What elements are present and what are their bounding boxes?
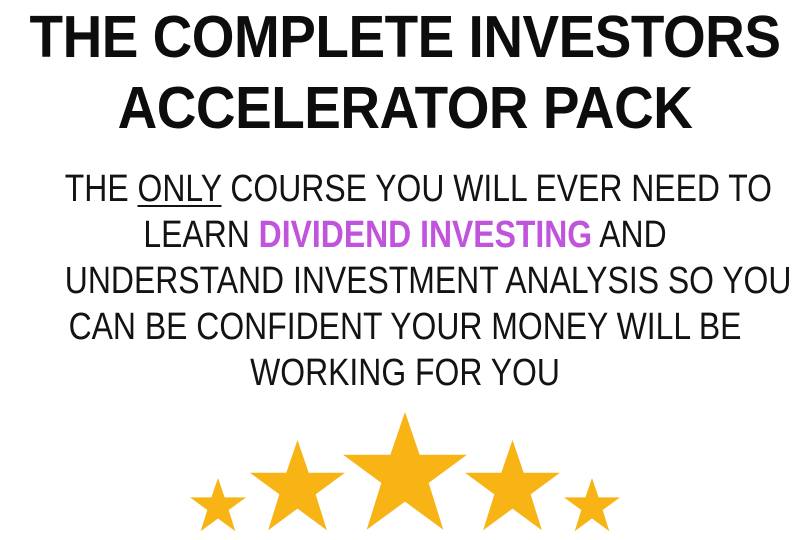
subhead-block: THE ONLY COURSE YOU WILL EVER NEED TO LE… [0, 166, 810, 396]
subhead-line-4: CAN BE CONFIDENT YOUR MONEY WILL BE [65, 304, 745, 350]
subhead-line-2-post: AND [592, 214, 667, 256]
subhead-line-5: WORKING FOR YOU [65, 350, 745, 396]
headline-block: THE COMPLETE INVESTORS ACCELERATOR PACK [0, 2, 810, 144]
promo-poster: THE COMPLETE INVESTORS ACCELERATOR PACK … [0, 0, 810, 540]
star-icon-1 [190, 478, 246, 531]
subhead-line-3: UNDERSTAND INVESTMENT ANALYSIS SO YOU [65, 258, 745, 304]
subhead-line-1-pre: THE [65, 168, 138, 210]
subhead-line-1: THE ONLY COURSE YOU WILL EVER NEED TO [65, 166, 745, 212]
star-icon-4 [465, 440, 560, 530]
subhead-line-1-post: COURSE YOU WILL EVER NEED TO [221, 168, 771, 210]
star-icon-5 [564, 478, 620, 531]
subhead-emphasis-only: ONLY [138, 168, 222, 210]
subhead-line-2-pre: LEARN [143, 214, 258, 256]
headline-line-2: ACCELERATOR PACK [28, 73, 781, 144]
subhead-line-2: LEARN DIVIDEND INVESTING AND [65, 212, 745, 258]
star-icon-3 [343, 412, 467, 530]
star-rating [0, 416, 810, 532]
star-icon-2 [250, 440, 345, 530]
headline-line-1: THE COMPLETE INVESTORS [28, 2, 781, 73]
subhead-highlight-dividend-investing: DIVIDEND INVESTING [259, 214, 592, 256]
